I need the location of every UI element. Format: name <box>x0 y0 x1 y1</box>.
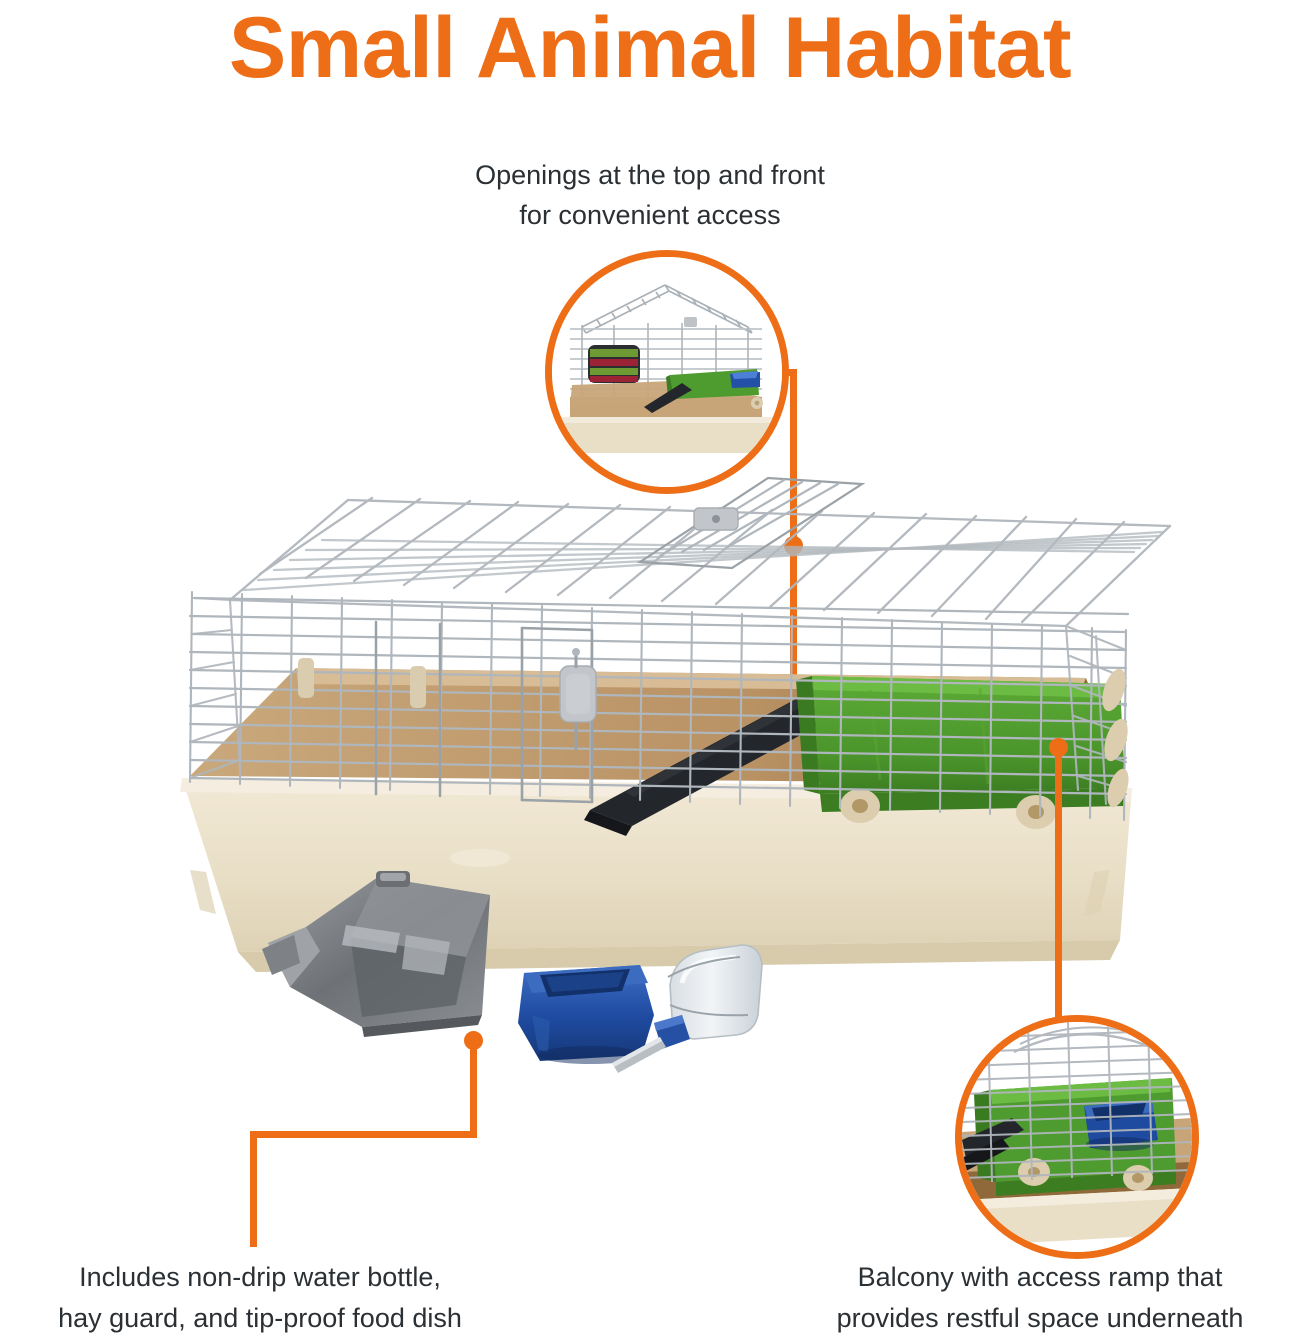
balcony-clip <box>840 789 880 823</box>
caption-balcony-line1: Balcony with access ramp that <box>780 1257 1300 1298</box>
balcony-clip <box>1016 795 1056 829</box>
included-accessories <box>250 865 770 1095</box>
caption-accessories-line2: hay guard, and tip-proof food dish <box>0 1298 520 1339</box>
callout-line-balcony-vertical <box>1055 746 1062 1018</box>
callout-caption-top: Openings at the top and front for conven… <box>330 155 970 235</box>
callout-caption-top-line1: Openings at the top and front <box>330 155 970 195</box>
inset-balcony-ramp <box>955 1015 1199 1259</box>
roof-hatch-latch <box>694 508 738 530</box>
caption-balcony-line2: provides restful space underneath <box>780 1298 1300 1339</box>
hay-guard <box>262 871 490 1037</box>
callout-line-accessories-horizontal <box>250 1131 477 1138</box>
food-dish <box>518 965 654 1064</box>
callout-line-accessories-vertical-2 <box>250 1131 257 1247</box>
callout-line-accessories-vertical-1 <box>470 1038 477 1138</box>
callout-caption-accessories: Includes non-drip water bottle, hay guar… <box>0 1257 520 1339</box>
callout-caption-balcony: Balcony with access ramp that provides r… <box>780 1257 1300 1339</box>
page-title: Small Animal Habitat <box>0 0 1300 98</box>
caption-accessories-line1: Includes non-drip water bottle, <box>0 1257 520 1298</box>
callout-caption-top-line2: for convenient access <box>330 195 970 235</box>
